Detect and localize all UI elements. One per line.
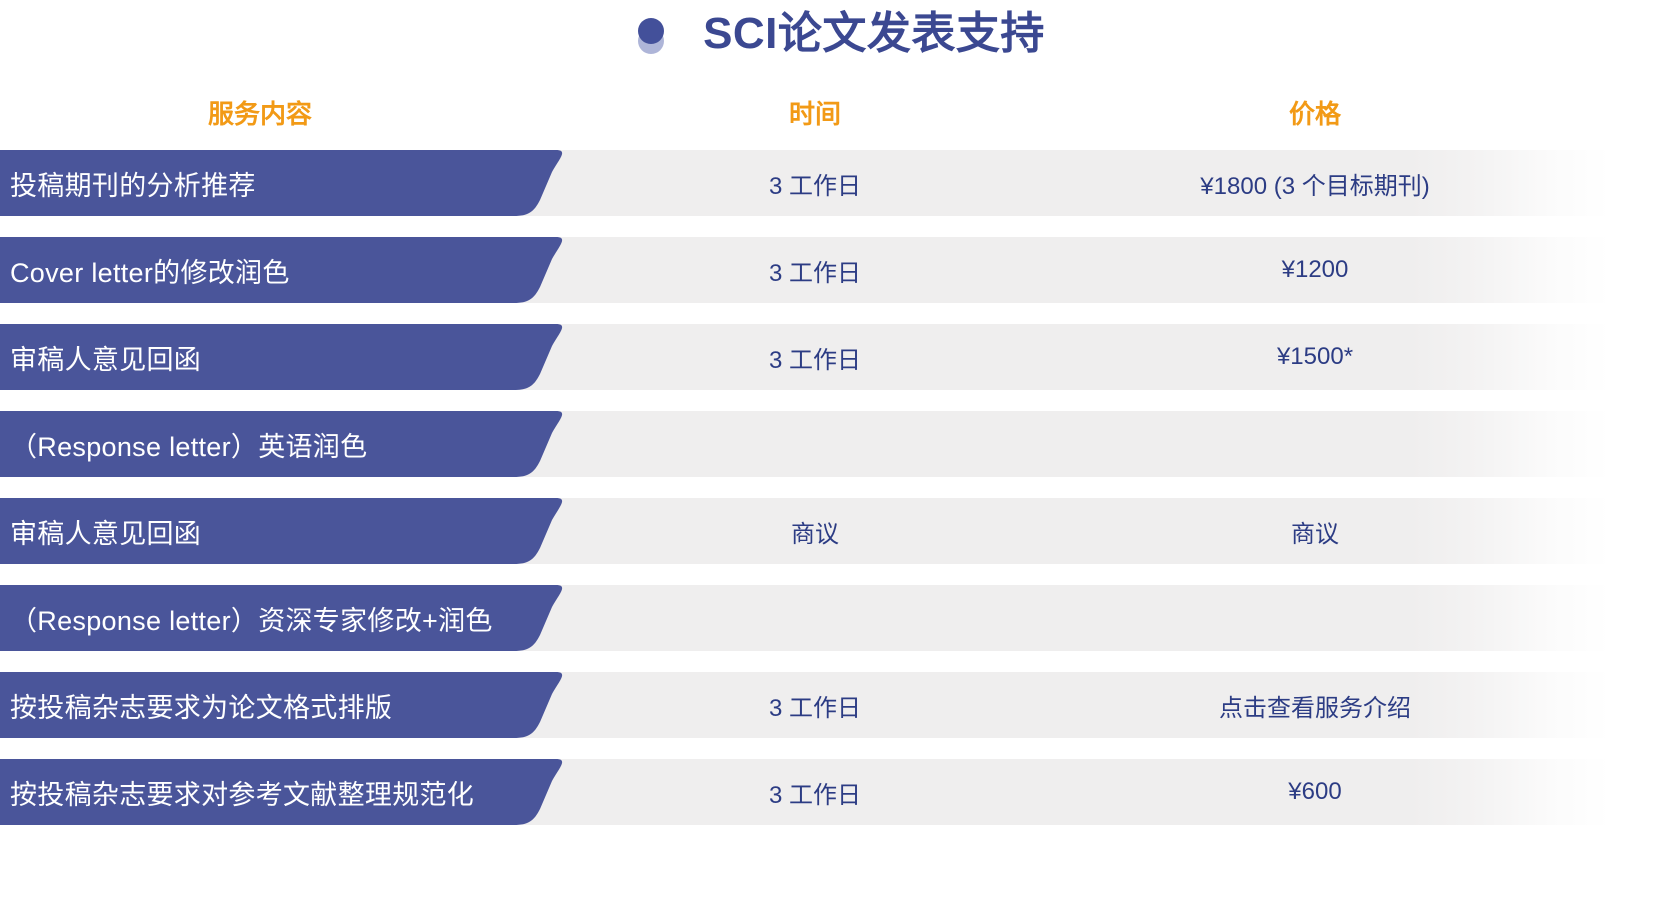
service-price: ¥600 <box>1090 759 1540 825</box>
service-name: 按投稿杂志要求为论文格式排版 <box>10 672 392 738</box>
column-header-service: 服务内容 <box>110 93 410 135</box>
service-time: 3 工作日 <box>665 759 965 825</box>
title-wrap: SCI论文发表支持 <box>0 10 1680 58</box>
service-price: ¥1500* <box>1090 324 1540 390</box>
service-name: （Response letter）英语润色 <box>10 411 367 477</box>
service-name: Cover letter的修改润色 <box>10 237 290 303</box>
table-row: （Response letter）英语润色 <box>0 411 1680 477</box>
table-row: 审稿人意见回函3 工作日¥1500* <box>0 324 1680 390</box>
service-price: ¥1200 <box>1090 237 1540 303</box>
table-row: Cover letter的修改润色3 工作日¥1200 <box>0 237 1680 303</box>
service-time <box>665 585 965 651</box>
service-price <box>1090 585 1540 651</box>
service-time: 商议 <box>665 498 965 564</box>
table-row: （Response letter）资深专家修改+润色 <box>0 585 1680 651</box>
service-time: 3 工作日 <box>665 672 965 738</box>
service-name: 投稿期刊的分析推荐 <box>10 150 256 216</box>
table-row: 审稿人意见回函商议商议 <box>0 498 1680 564</box>
table-row: 按投稿杂志要求为论文格式排版3 工作日点击查看服务介绍 <box>0 672 1680 738</box>
service-time: 3 工作日 <box>665 150 965 216</box>
column-headers: 服务内容 时间 价格 <box>0 93 1680 135</box>
service-name: 审稿人意见回函 <box>10 498 201 564</box>
service-name: （Response letter）资深专家修改+润色 <box>10 585 493 651</box>
column-header-time: 时间 <box>665 93 965 135</box>
service-name: 按投稿杂志要求对参考文献整理规范化 <box>10 759 474 825</box>
service-name: 审稿人意见回函 <box>10 324 201 390</box>
service-time <box>665 411 965 477</box>
service-price[interactable]: 点击查看服务介绍 <box>1090 672 1540 738</box>
page-title: SCI论文发表支持 <box>703 12 1045 56</box>
title-bar: SCI论文发表支持 <box>0 0 1680 88</box>
table-row: 投稿期刊的分析推荐3 工作日¥1800 (3 个目标期刊) <box>0 150 1680 216</box>
service-price <box>1090 411 1540 477</box>
service-price: 商议 <box>1090 498 1540 564</box>
table-row: 按投稿杂志要求对参考文献整理规范化3 工作日¥600 <box>0 759 1680 825</box>
column-header-price: 价格 <box>1165 93 1465 135</box>
service-price: ¥1800 (3 个目标期刊) <box>1090 150 1540 216</box>
service-time: 3 工作日 <box>665 237 965 303</box>
service-table: 投稿期刊的分析推荐3 工作日¥1800 (3 个目标期刊)Cover lette… <box>0 150 1680 846</box>
bullet-front-circle-icon <box>638 18 664 44</box>
service-time: 3 工作日 <box>665 324 965 390</box>
double-circle-bullet-icon <box>635 10 669 58</box>
